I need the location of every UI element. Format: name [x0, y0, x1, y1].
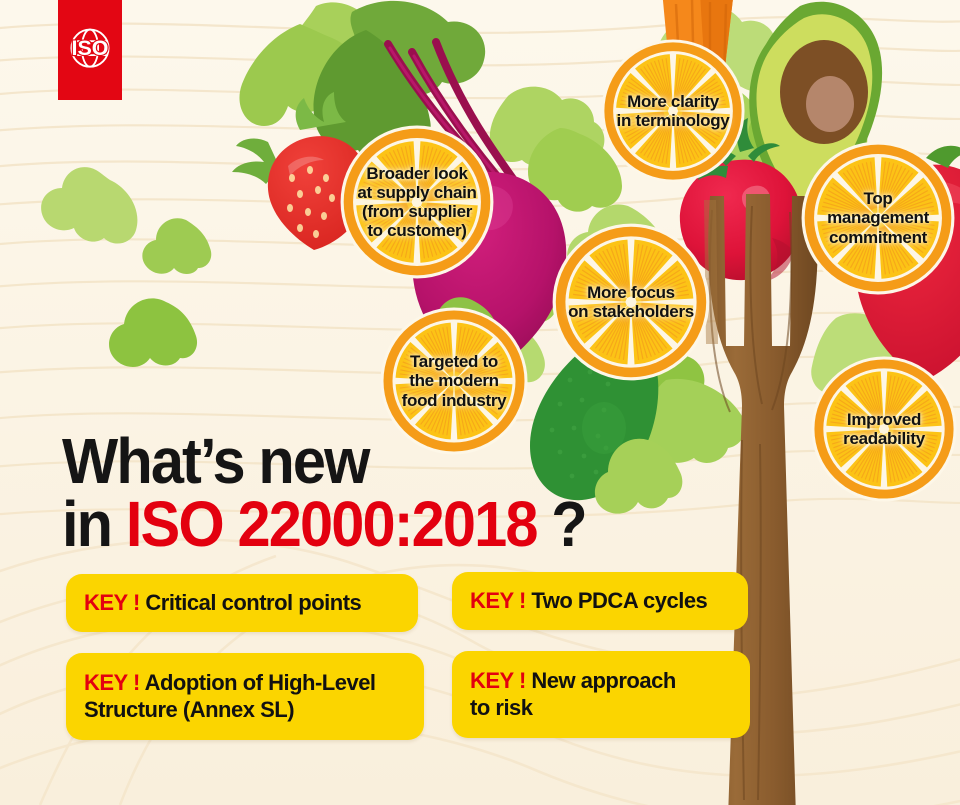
headline-prefix: in [62, 488, 126, 560]
key-box-text: KEY ! Critical control points [84, 590, 361, 617]
iso-globe-icon: ISO [61, 18, 119, 76]
key-badge-label: KEY ! [470, 588, 526, 613]
bubble-broader-look[interactable]: Broader lookat supply chain(from supplie… [339, 124, 495, 280]
headline-line-1: What’s new [62, 425, 369, 497]
key-point-text: New approach [531, 668, 675, 693]
headline-line-2: in ISO 22000:2018 ? [62, 493, 586, 556]
key-box-new-approach-to-risk[interactable]: KEY ! New approachto risk [452, 651, 750, 738]
bubble-label-line: More clarity [617, 92, 730, 111]
key-box-line: KEY ! Two PDCA cycles [470, 588, 707, 615]
bubble-label-line: Broader look [357, 164, 476, 183]
key-box-two-pdca-cycles[interactable]: KEY ! Two PDCA cycles [452, 572, 748, 630]
key-box-line: KEY ! New approach [470, 668, 676, 695]
bubble-label-line: readability [843, 429, 925, 448]
key-box-adoption-high-level-structure[interactable]: KEY ! Adoption of High-LevelStructure (A… [66, 653, 424, 740]
page-title: What’s new in ISO 22000:2018 ? [62, 430, 586, 557]
bubble-more-clarity[interactable]: More clarityin terminology [600, 38, 746, 184]
bubble-label-line: in terminology [617, 111, 730, 130]
bubble-label-line: (from supplier [357, 202, 476, 221]
iso-logo: ISO [58, 0, 122, 100]
bubble-more-focus[interactable]: More focuson stakeholders [551, 222, 711, 382]
key-box-line: KEY ! Adoption of High-Level [84, 670, 376, 697]
bubble-label-line: the modern [402, 371, 507, 390]
bubble-label-line: to customer) [357, 221, 476, 240]
bubble-label: Broader lookat supply chain(from supplie… [351, 164, 482, 240]
key-point-text: Critical control points [145, 590, 361, 615]
key-point-text: to risk [470, 695, 533, 720]
key-point-text: Adoption of High-Level [145, 670, 376, 695]
bubble-label: More focuson stakeholders [562, 283, 700, 321]
key-box-text: KEY ! Adoption of High-LevelStructure (A… [84, 670, 376, 724]
bubble-label-line: More focus [568, 283, 694, 302]
key-box-critical-control-points[interactable]: KEY ! Critical control points [66, 574, 418, 632]
headline-standard: ISO 22000:2018 [126, 488, 537, 560]
bubble-top-management[interactable]: Topmanagementcommitment [800, 140, 956, 296]
key-box-text: KEY ! Two PDCA cycles [470, 588, 707, 615]
bubble-label-line: at supply chain [357, 183, 476, 202]
bubble-label-line: Top [827, 189, 929, 208]
svg-text:ISO: ISO [72, 36, 109, 60]
key-box-line: KEY ! Critical control points [84, 590, 361, 617]
bubble-label: More clarityin terminology [611, 92, 736, 130]
key-box-line: to risk [470, 695, 676, 722]
key-badge-label: KEY ! [470, 668, 526, 693]
bubble-label-line: on stakeholders [568, 302, 694, 321]
bubble-label-line: commitment [827, 228, 929, 247]
bubble-label-line: Improved [843, 410, 925, 429]
key-badge-label: KEY ! [84, 590, 140, 615]
bubble-label: Topmanagementcommitment [821, 189, 935, 246]
key-point-text: Two PDCA cycles [531, 588, 707, 613]
key-box-text: KEY ! New approachto risk [470, 668, 676, 722]
bubble-label-line: management [827, 208, 929, 227]
bubble-label: Improvedreadability [837, 410, 931, 448]
infographic-canvas: ISO Broader lookat supply chain(from sup… [0, 0, 960, 805]
key-box-line: Structure (Annex SL) [84, 697, 376, 724]
bubble-label: Targeted tothe modernfood industry [396, 352, 513, 409]
key-point-text: Structure (Annex SL) [84, 697, 294, 722]
key-badge-label: KEY ! [84, 670, 140, 695]
headline-suffix: ? [537, 488, 586, 560]
bubble-label-line: food industry [402, 391, 507, 410]
bubble-improved-readability[interactable]: Improvedreadability [810, 355, 958, 503]
bubble-label-line: Targeted to [402, 352, 507, 371]
